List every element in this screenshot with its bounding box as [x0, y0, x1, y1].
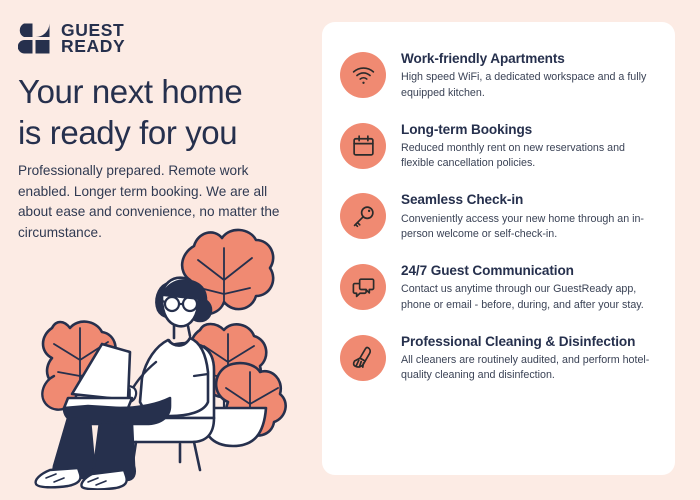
hero-illustration [28, 222, 313, 490]
feature-text: 24/7 Guest Communication Contact us anyt… [401, 262, 655, 313]
hero-column: GUEST READY Your next home is ready for … [0, 0, 322, 500]
feature-description: Reduced monthly rent on new reservations… [401, 141, 655, 171]
feature-list: Work-friendly Apartments High speed WiFi… [340, 50, 655, 383]
calendar-icon [340, 123, 386, 169]
wifi-icon [340, 52, 386, 98]
feature-title: Professional Cleaning & Disinfection [401, 334, 655, 350]
feature-item-guest-communication: 24/7 Guest Communication Contact us anyt… [340, 262, 655, 313]
feature-item-seamless-check-in: Seamless Check-in Conveniently access yo… [340, 191, 655, 242]
guestready-logo-mark-icon [18, 23, 52, 54]
feature-title: Long-term Bookings [401, 122, 655, 138]
brand-wordmark: GUEST READY [61, 22, 125, 55]
headline-line-1: Your next home [18, 73, 242, 110]
feature-title: 24/7 Guest Communication [401, 263, 655, 279]
feature-description: All cleaners are routinely audited, and … [401, 353, 655, 383]
feature-text: Long-term Bookings Reduced monthly rent … [401, 121, 655, 172]
feature-text: Work-friendly Apartments High speed WiFi… [401, 50, 655, 101]
page-title: Your next home is ready for you [18, 72, 308, 153]
feature-description: Conveniently access your new home throug… [401, 212, 655, 242]
broom-icon [340, 335, 386, 381]
headline-line-2: is ready for you [18, 114, 237, 151]
brand-logo[interactable]: GUEST READY [18, 22, 125, 55]
feature-title: Work-friendly Apartments [401, 51, 655, 67]
features-card: Work-friendly Apartments High speed WiFi… [322, 22, 675, 475]
key-icon [340, 193, 386, 239]
brand-name-line2: READY [61, 38, 125, 54]
feature-title: Seamless Check-in [401, 192, 655, 208]
feature-text: Professional Cleaning & Disinfection All… [401, 333, 655, 384]
feature-item-long-term-bookings: Long-term Bookings Reduced monthly rent … [340, 121, 655, 172]
feature-text: Seamless Check-in Conveniently access yo… [401, 191, 655, 242]
feature-item-work-friendly-apartments: Work-friendly Apartments High speed WiFi… [340, 50, 655, 101]
feature-description: High speed WiFi, a dedicated workspace a… [401, 70, 655, 100]
promo-page: GUEST READY Your next home is ready for … [0, 0, 700, 500]
feature-description: Contact us anytime through our GuestRead… [401, 282, 655, 312]
chat-bubbles-icon [340, 264, 386, 310]
feature-item-professional-cleaning: Professional Cleaning & Disinfection All… [340, 333, 655, 384]
